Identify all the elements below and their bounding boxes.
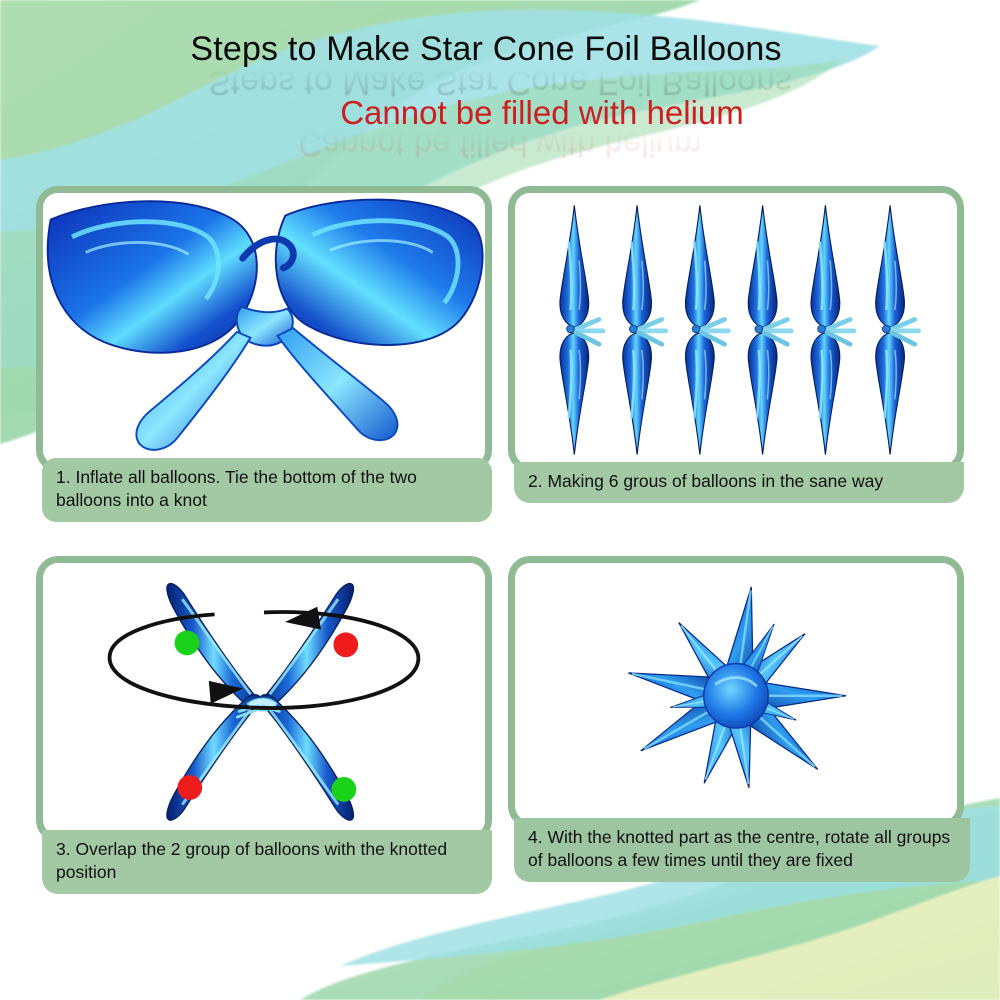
page-title: Steps to Make Star Cone Foil Balloons bbox=[190, 32, 809, 68]
warning-subtitle: Cannot be filled with helium bbox=[256, 96, 744, 131]
step-1-image-frame bbox=[36, 186, 492, 472]
two-inflated-foil-balloons-knotted-icon bbox=[43, 193, 485, 465]
marker-dot-green-top-left bbox=[175, 631, 200, 656]
step-2-caption: 2. Making 6 grous of balloons in the san… bbox=[514, 462, 964, 503]
warning-subtitle-reflection: Cannot be filled with helium bbox=[0, 127, 1000, 162]
step-2-image-frame bbox=[508, 186, 964, 472]
step-4-image-frame bbox=[508, 556, 964, 828]
step-1-caption: 1. Inflate all balloons. Tie the bottom … bbox=[42, 458, 492, 522]
marker-dot-green-bottom-right bbox=[332, 777, 357, 802]
step-3-caption: 3. Overlap the 2 group of balloons with … bbox=[42, 830, 492, 894]
step-3-image-frame bbox=[36, 556, 492, 842]
marker-dot-red-bottom-left bbox=[177, 775, 202, 800]
warning-subtitle-block: Cannot be filled with helium Cannot be f… bbox=[0, 96, 1000, 161]
instruction-graphic: Steps to Make Star Cone Foil Balloons St… bbox=[0, 0, 1000, 1000]
step-4-caption: 4. With the knotted part as the centre, … bbox=[514, 818, 970, 882]
six-groups-of-paired-cone-balloons-icon bbox=[515, 193, 957, 465]
header: Steps to Make Star Cone Foil Balloons St… bbox=[0, 0, 1000, 180]
marker-dot-red-top-right bbox=[333, 632, 358, 657]
two-groups-overlapped-x-shape-icon bbox=[43, 563, 485, 835]
page-title-block: Steps to Make Star Cone Foil Balloons St… bbox=[0, 32, 1000, 99]
finished-star-cone-balloon-icon bbox=[515, 563, 957, 821]
